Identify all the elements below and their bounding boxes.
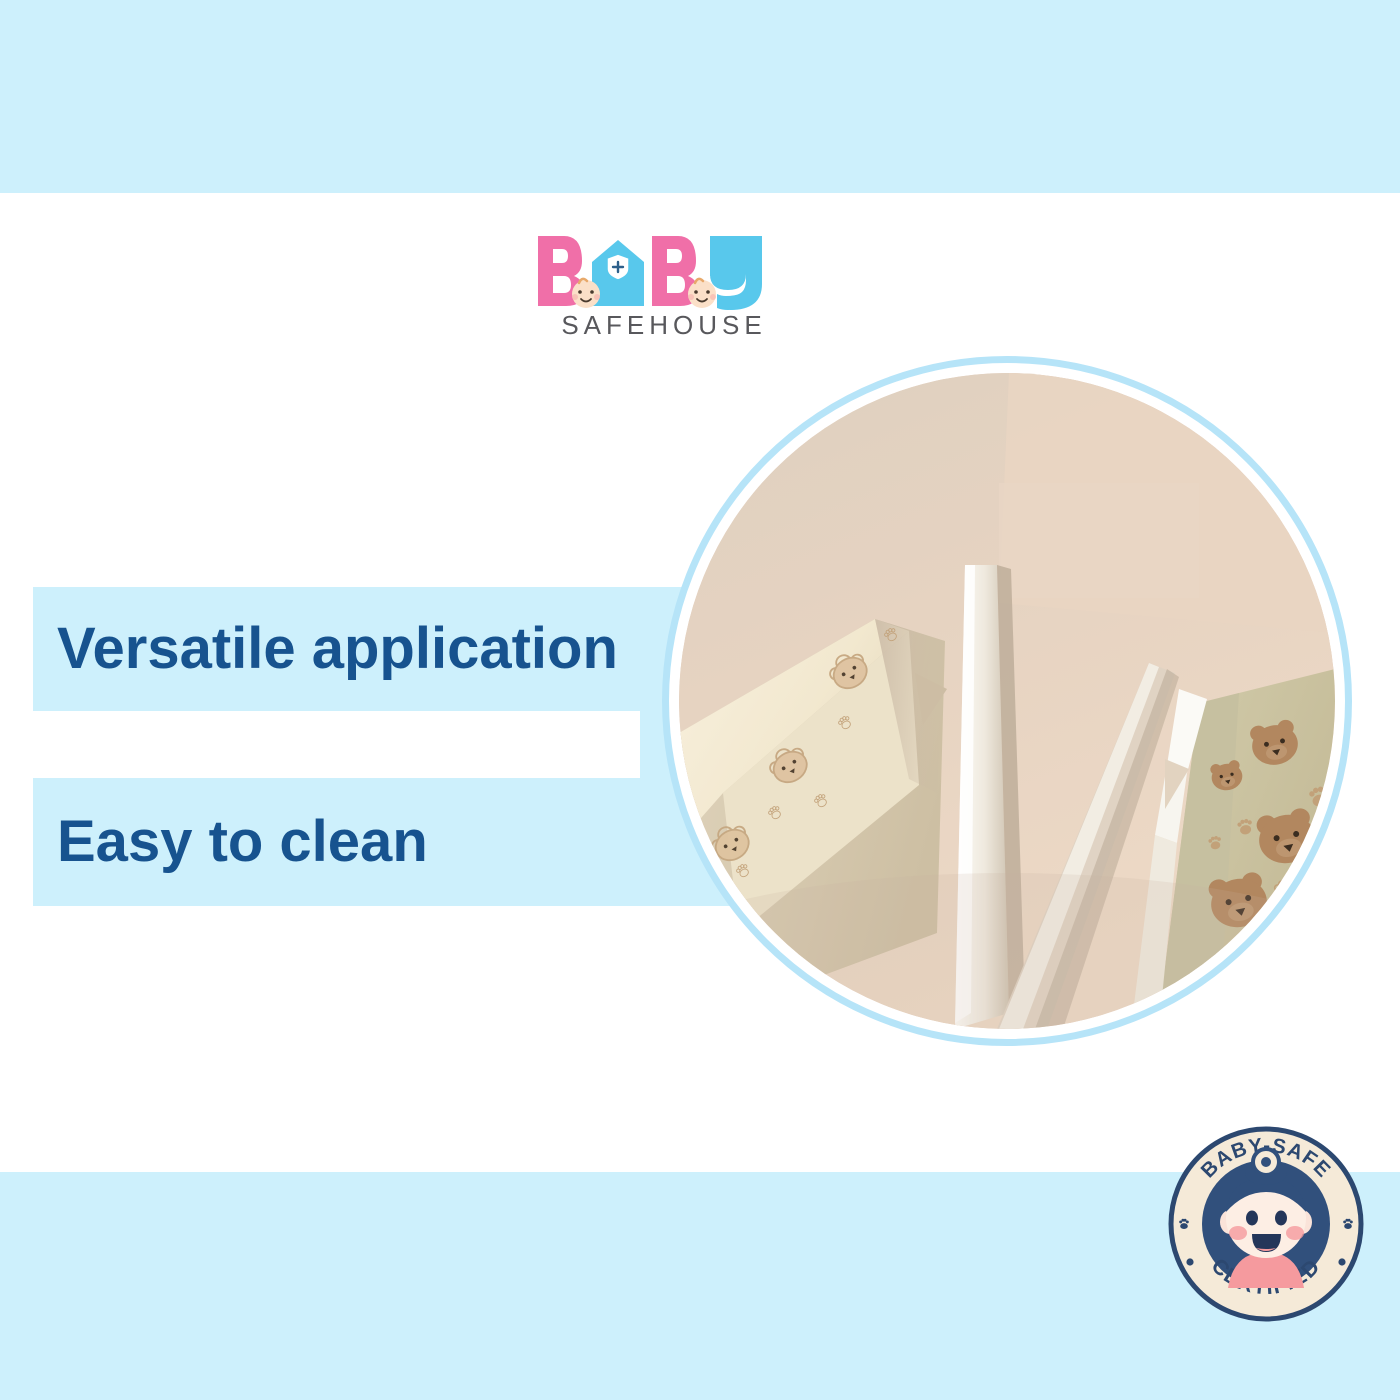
feature-label-1: Versatile application — [33, 620, 618, 678]
feature-label-2: Easy to clean — [33, 813, 428, 871]
feature-item-1: Versatile application — [33, 587, 673, 711]
badge-graphic: BABY-SAFE CERTIFIED — [1168, 1126, 1364, 1322]
baby-safe-certified-badge: BABY-SAFE CERTIFIED — [1168, 1126, 1364, 1322]
features-banner — [0, 0, 1400, 193]
logo-subtitle: SAFEHOUSE — [530, 312, 798, 338]
features-infographic: FEATURES — [0, 0, 1400, 1400]
product-photo — [679, 373, 1335, 1029]
brand-logo: SAFEHOUSE — [530, 228, 798, 350]
product-photo-image — [679, 373, 1335, 1029]
feature-item-2: Easy to clean — [33, 778, 673, 906]
logo-wordmark — [530, 228, 798, 310]
